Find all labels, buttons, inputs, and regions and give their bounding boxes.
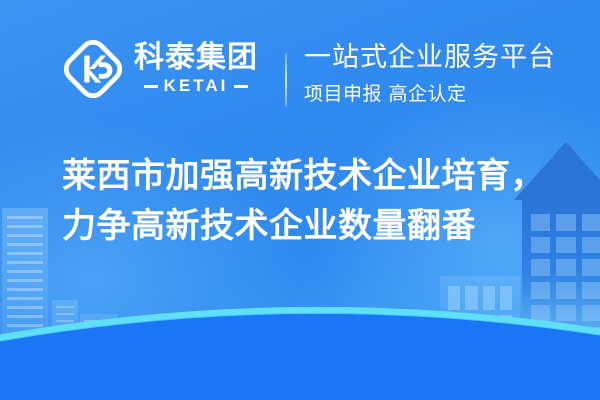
vertical-divider-icon — [285, 53, 287, 107]
window — [556, 259, 575, 276]
dash-right-icon — [234, 85, 248, 88]
brand-name-en: KETAI — [164, 76, 229, 96]
tagline-block: 一站式企业服务平台 项目申报 高企认定 — [304, 42, 556, 106]
brand-name-en-row: KETAI — [144, 76, 249, 96]
window — [582, 259, 600, 276]
ketai-diamond-kp-logo-icon — [62, 38, 124, 100]
promo-banner: 科泰集团 KETAI 一站式企业服务平台 项目申报 高企认定 莱西市加强高新技术… — [0, 0, 600, 400]
brand-logo-text: 科泰集团 KETAI — [134, 42, 258, 96]
brand-logo[interactable]: 科泰集团 KETAI — [62, 38, 258, 100]
tagline-sub: 项目申报 高企认定 — [304, 79, 556, 106]
dash-left-icon — [144, 85, 158, 88]
window — [582, 237, 600, 254]
headline: 莱西市加强高新技术企业培育， 力争高新技术企业数量翻番 — [62, 152, 562, 252]
tagline-main: 一站式企业服务平台 — [304, 42, 556, 73]
window — [582, 214, 600, 231]
window — [531, 259, 550, 276]
headline-line-2: 力争高新技术企业数量翻番 — [62, 202, 562, 252]
brand-name-cn: 科泰集团 — [134, 42, 258, 73]
banner-header: 科泰集团 KETAI 一站式企业服务平台 项目申报 高企认定 — [0, 0, 600, 140]
wave-arc-icon — [0, 280, 600, 400]
headline-line-1: 莱西市加强高新技术企业培育， — [62, 152, 562, 202]
